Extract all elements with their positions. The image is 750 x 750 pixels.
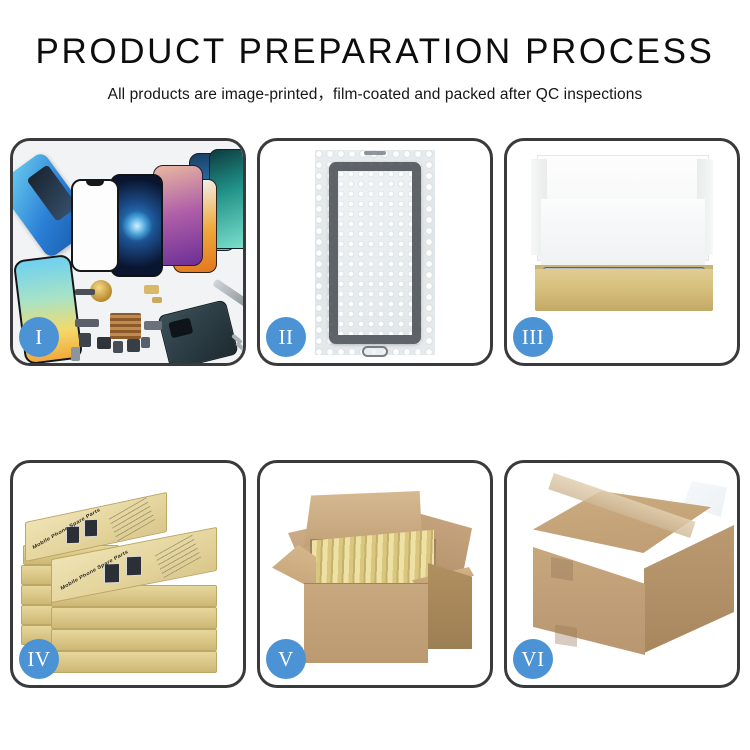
process-step-grid: I II III: [10, 138, 740, 688]
wrapped-screen-glass: [329, 162, 421, 344]
page-subtitle: All products are image-printed，film-coat…: [0, 82, 750, 104]
process-step-panel-4[interactable]: Mobile Phone Spare Parts Mobile Phone Sp…: [10, 460, 246, 688]
kraft-box-body: [535, 269, 713, 311]
process-step-panel-2[interactable]: II: [257, 138, 493, 366]
foam-insert: [541, 199, 705, 271]
step-badge-6: VI: [513, 639, 553, 679]
process-step-panel-6[interactable]: VI: [504, 460, 740, 688]
page-header: PRODUCT PREPARATION PROCESS All products…: [0, 0, 750, 104]
step-badge-5: V: [266, 639, 306, 679]
page-title: PRODUCT PREPARATION PROCESS: [0, 34, 750, 69]
phone-white-blank-screen: [71, 179, 119, 272]
process-step-panel-1[interactable]: I: [10, 138, 246, 366]
carton-handle-tab-upper: [551, 555, 573, 581]
process-step-panel-3[interactable]: III: [504, 138, 740, 366]
carton-front-face: [304, 583, 428, 663]
step-badge-3: III: [513, 317, 553, 357]
earpiece-slot: [364, 151, 386, 155]
step-badge-2: II: [266, 317, 306, 357]
sealed-carton-front-face: [533, 547, 645, 655]
chip-array-part: [110, 313, 141, 339]
step-badge-4: IV: [19, 639, 59, 679]
carton-front-crease: [304, 583, 428, 584]
carton-side-face: [428, 563, 472, 649]
home-button: [362, 346, 388, 357]
sealed-carton-side-face: [644, 525, 734, 653]
step-badge-1: I: [19, 317, 59, 357]
process-step-panel-5[interactable]: V: [257, 460, 493, 688]
